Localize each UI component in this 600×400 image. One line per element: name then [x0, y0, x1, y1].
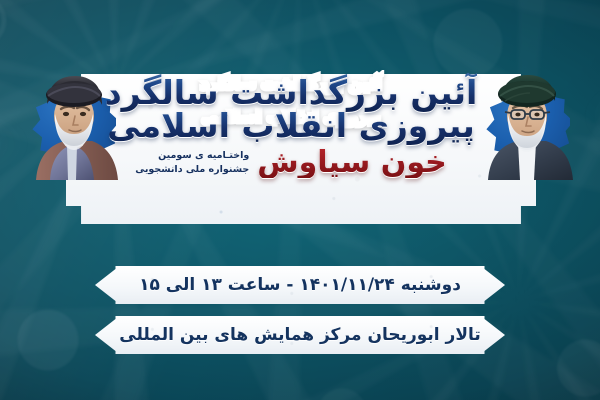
venue-text: تالار ابوریحان مرکز همایش های بین المللی	[119, 325, 481, 345]
title-line-2: پیروزی انقلاب اسلامی	[107, 102, 474, 145]
festival-subtitle: واختـامیه ی سومین جشنواره ملی دانشجویی	[135, 149, 249, 177]
festival-subtitle-line-2: جشنواره ملی دانشجویی	[135, 164, 249, 175]
title-line-2-wrap: پیروزی انقلاب اسلامی پیروزی انقلاب اسلام…	[96, 109, 486, 142]
venue-ribbon: تالار ابوریحان مرکز همایش های بین المللی	[95, 316, 505, 354]
date-ribbon: دوشنبه ۱۴۰۱/۱۱/۲۴ - ساعت ۱۳ الی ۱۵	[95, 266, 505, 304]
headline-red-khoon-siavash: خون سیاوش	[257, 148, 447, 178]
subtitle-row: خون سیاوش واختـامیه ی سومین جشنواره ملی …	[96, 148, 486, 178]
date-text: دوشنبه ۱۴۰۱/۱۱/۲۴ - ساعت ۱۳ الی ۱۵	[139, 275, 461, 295]
event-poster: آئین بزرگداشت سالگرد آئین بزرگداشت سالگر…	[0, 0, 600, 400]
portrait-khamenei-icon	[474, 68, 578, 180]
festival-subtitle-line-1: واختـامیه ی سومین	[158, 150, 249, 161]
portrait-badge-right	[474, 68, 578, 180]
title-block: آئین بزرگداشت سالگرد آئین بزرگداشت سالگر…	[96, 76, 486, 222]
